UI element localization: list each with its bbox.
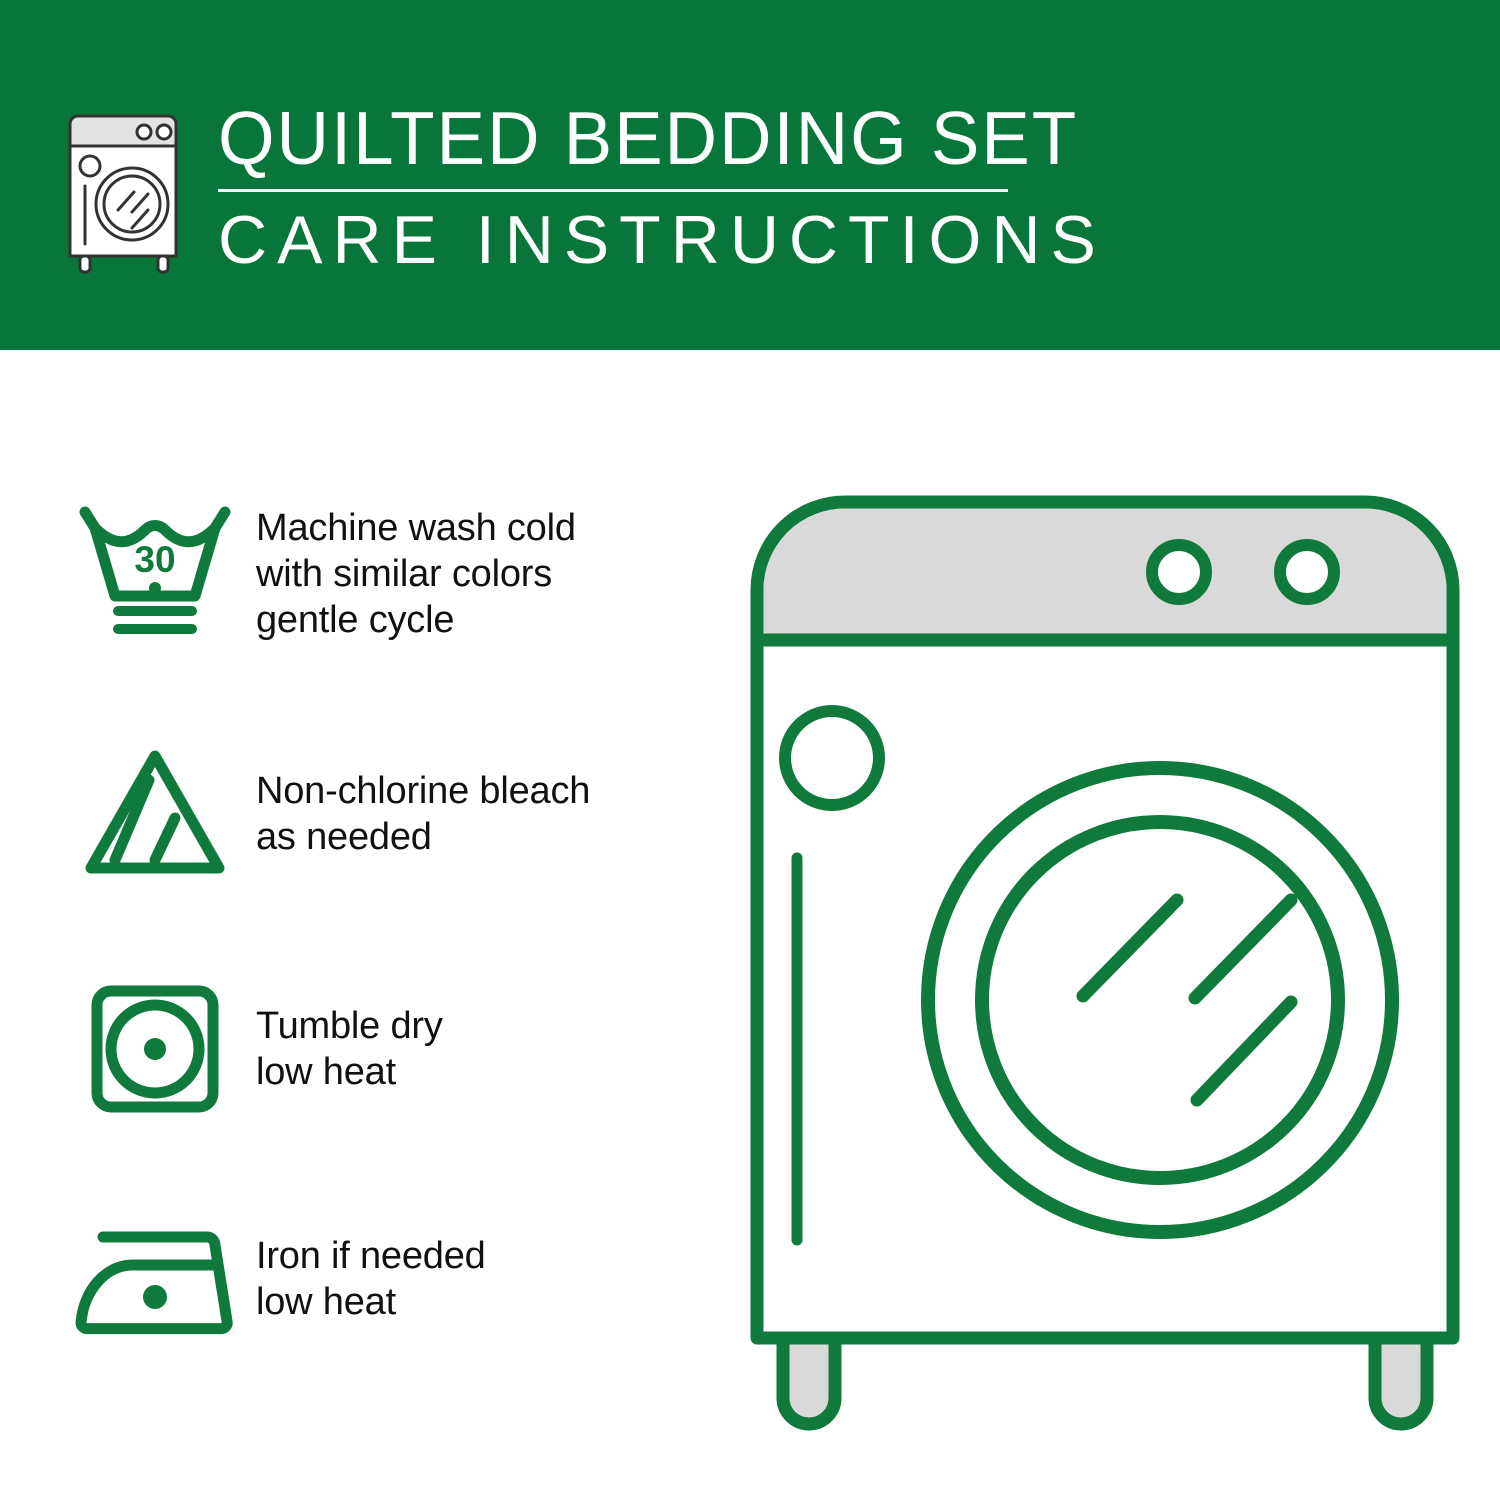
care-text-iron: Iron if needed low heat [256, 1233, 486, 1325]
care-line: low heat [256, 1049, 443, 1095]
care-text-machine-wash: Machine wash cold with similar colors ge… [256, 505, 576, 643]
control-panel [764, 509, 1447, 641]
washing-machine-illustration [735, 480, 1475, 1440]
title-divider [218, 189, 1008, 192]
washing-machine-svg [735, 480, 1475, 1440]
knob-right [1280, 545, 1334, 599]
iron-body-outline [81, 1237, 227, 1329]
care-line: gentle cycle [256, 597, 576, 643]
care-symbol-slot [70, 1205, 240, 1353]
care-line: as needed [256, 814, 590, 860]
iron-heat-dot [143, 1285, 167, 1309]
wash-temperature-label: 30 [134, 539, 175, 580]
care-text-tumble-dry: Tumble dry low heat [256, 1003, 443, 1095]
care-line: Non-chlorine bleach [256, 768, 590, 814]
header-banner: QUILTED BEDDING SET CARE INSTRUCTIONS [0, 0, 1500, 350]
page-title: QUILTED BEDDING SET [218, 98, 1079, 178]
header-content: QUILTED BEDDING SET CARE INSTRUCTIONS [62, 98, 1106, 277]
detergent-indicator-circle [785, 711, 879, 805]
care-instruction-list: 30 Machine wash cold with similar colors… [0, 350, 740, 1500]
wash-dot [149, 582, 161, 594]
title-block: QUILTED BEDDING SET CARE INSTRUCTIONS [218, 98, 1106, 277]
gentle-bar-2 [113, 624, 197, 634]
care-line: low heat [256, 1279, 486, 1325]
care-row-machine-wash: 30 Machine wash cold with similar colors… [70, 500, 710, 648]
care-symbol-slot [70, 740, 240, 888]
leg-right [1375, 1338, 1427, 1424]
care-line: Machine wash cold [256, 505, 576, 551]
care-line: Iron if needed [256, 1233, 486, 1279]
bleach-stripe-2 [155, 818, 175, 860]
care-row-tumble-dry: Tumble dry low heat [70, 975, 710, 1123]
dry-heat-dot [144, 1038, 166, 1060]
care-symbol-slot: 30 [70, 500, 240, 648]
knob-left [1152, 545, 1206, 599]
non-chlorine-bleach-triangle-icon [71, 740, 239, 888]
page-subtitle: CARE INSTRUCTIONS [218, 203, 1106, 277]
care-row-iron: Iron if needed low heat [70, 1205, 710, 1353]
care-line: with similar colors [256, 551, 576, 597]
care-line: Tumble dry [256, 1003, 443, 1049]
care-symbol-slot [70, 975, 240, 1123]
washing-machine-icon [62, 108, 190, 276]
wash-tub-30-gentle-icon: 30 [71, 500, 239, 648]
iron-low-heat-icon [71, 1205, 239, 1353]
tumble-dry-low-heat-icon [71, 975, 239, 1123]
gentle-bar-1 [113, 606, 197, 616]
care-row-bleach: Non-chlorine bleach as needed [70, 740, 710, 888]
care-text-bleach: Non-chlorine bleach as needed [256, 768, 590, 860]
leg-left [783, 1338, 835, 1424]
